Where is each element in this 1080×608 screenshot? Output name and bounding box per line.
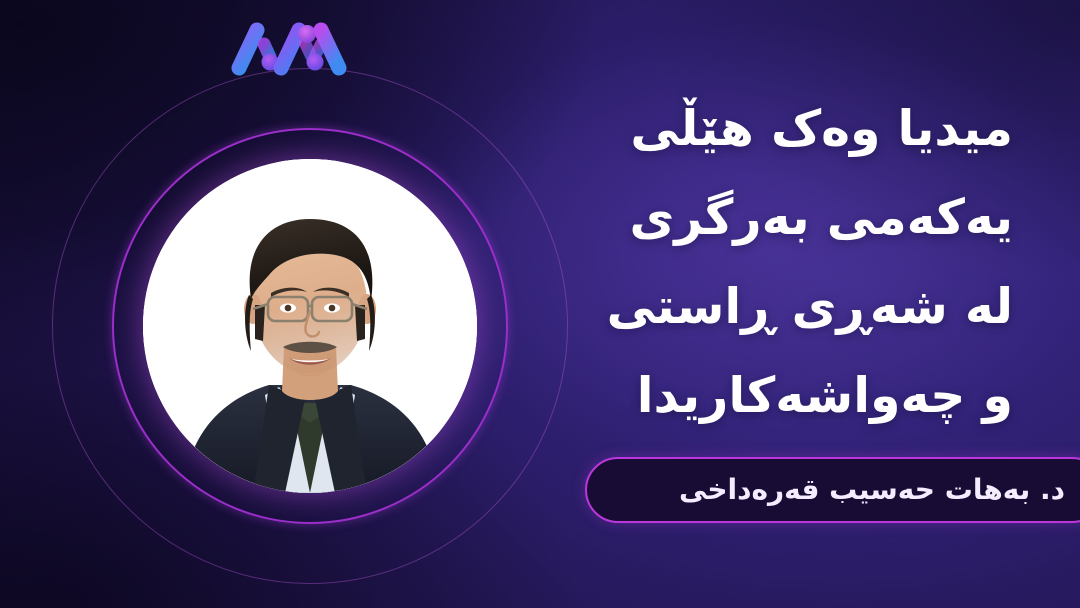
headline-line-2: یەکەمی بەرگری (543, 173, 1013, 262)
headline: میدیا وەک هێڵی یەکەمی بەرگری لە شەڕی ڕاس… (543, 84, 1013, 440)
ava-logo[interactable] (217, 16, 357, 80)
author-badge: د. بەهات حەسیب قەرەداخی (585, 457, 1080, 523)
headline-line-3: لە شەڕی ڕاستی (543, 262, 1013, 351)
headline-line-4: و چەواشەکاریدا (543, 351, 1013, 440)
portrait-photo (143, 159, 477, 493)
headline-line-1: میدیا وەک هێڵی (543, 84, 1013, 173)
media-card: میدیا وەک هێڵی یەکەمی بەرگری لە شەڕی ڕاس… (0, 0, 1080, 608)
author-name: د. بەهات حەسیب قەرەداخی (679, 476, 1065, 504)
speaker-portrait (143, 159, 477, 493)
